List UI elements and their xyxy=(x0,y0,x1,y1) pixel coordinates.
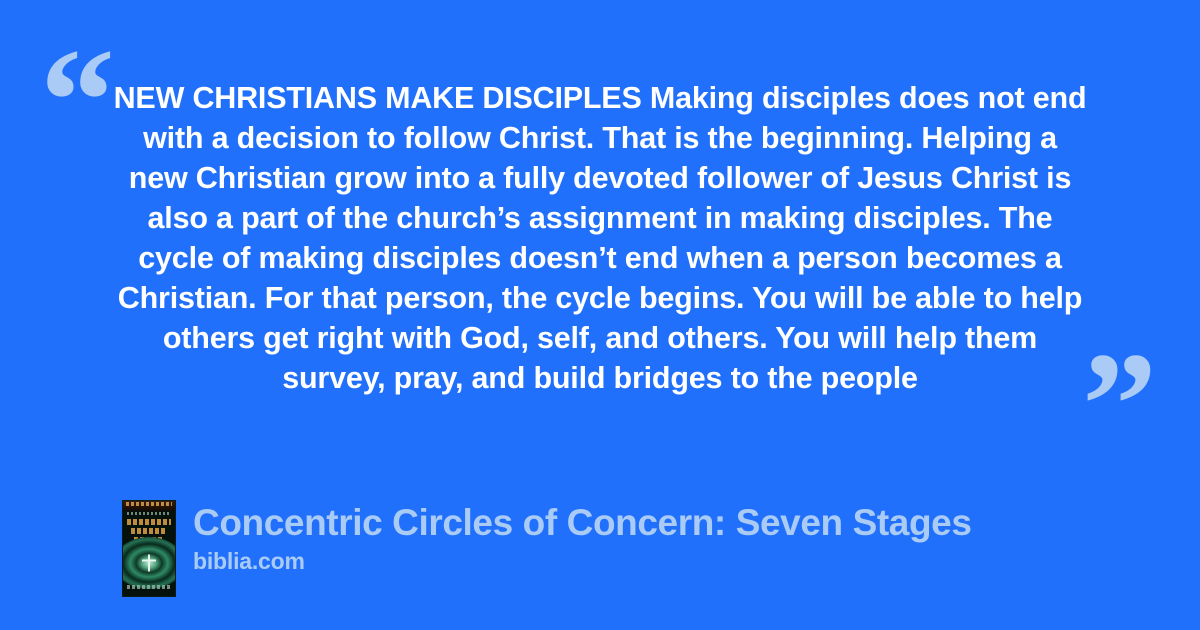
book-cover-subtitle-line xyxy=(127,512,171,515)
book-cover-thumbnail xyxy=(122,500,176,597)
quote-body-text: NEW CHRISTIANS MAKE DISCIPLES Making dis… xyxy=(110,78,1090,398)
book-cover-cross-icon xyxy=(148,555,150,572)
footer-attribution[interactable]: Concentric Circles of Concern: Seven Sta… xyxy=(122,500,972,597)
quote-area: “ NEW CHRISTIANS MAKE DISCIPLES Making d… xyxy=(0,0,1200,430)
book-cover-author-line xyxy=(126,502,172,506)
book-cover-footer-line xyxy=(127,585,171,589)
footer-text-group: Concentric Circles of Concern: Seven Sta… xyxy=(193,500,972,576)
source-site-label[interactable]: biblia.com xyxy=(193,546,972,576)
book-cover-top-band xyxy=(123,501,175,511)
open-quote-icon: “ xyxy=(40,26,115,176)
book-title[interactable]: Concentric Circles of Concern: Seven Sta… xyxy=(193,500,972,546)
close-quote-icon: ” xyxy=(1082,330,1157,480)
quote-card: “ NEW CHRISTIANS MAKE DISCIPLES Making d… xyxy=(0,0,1200,630)
